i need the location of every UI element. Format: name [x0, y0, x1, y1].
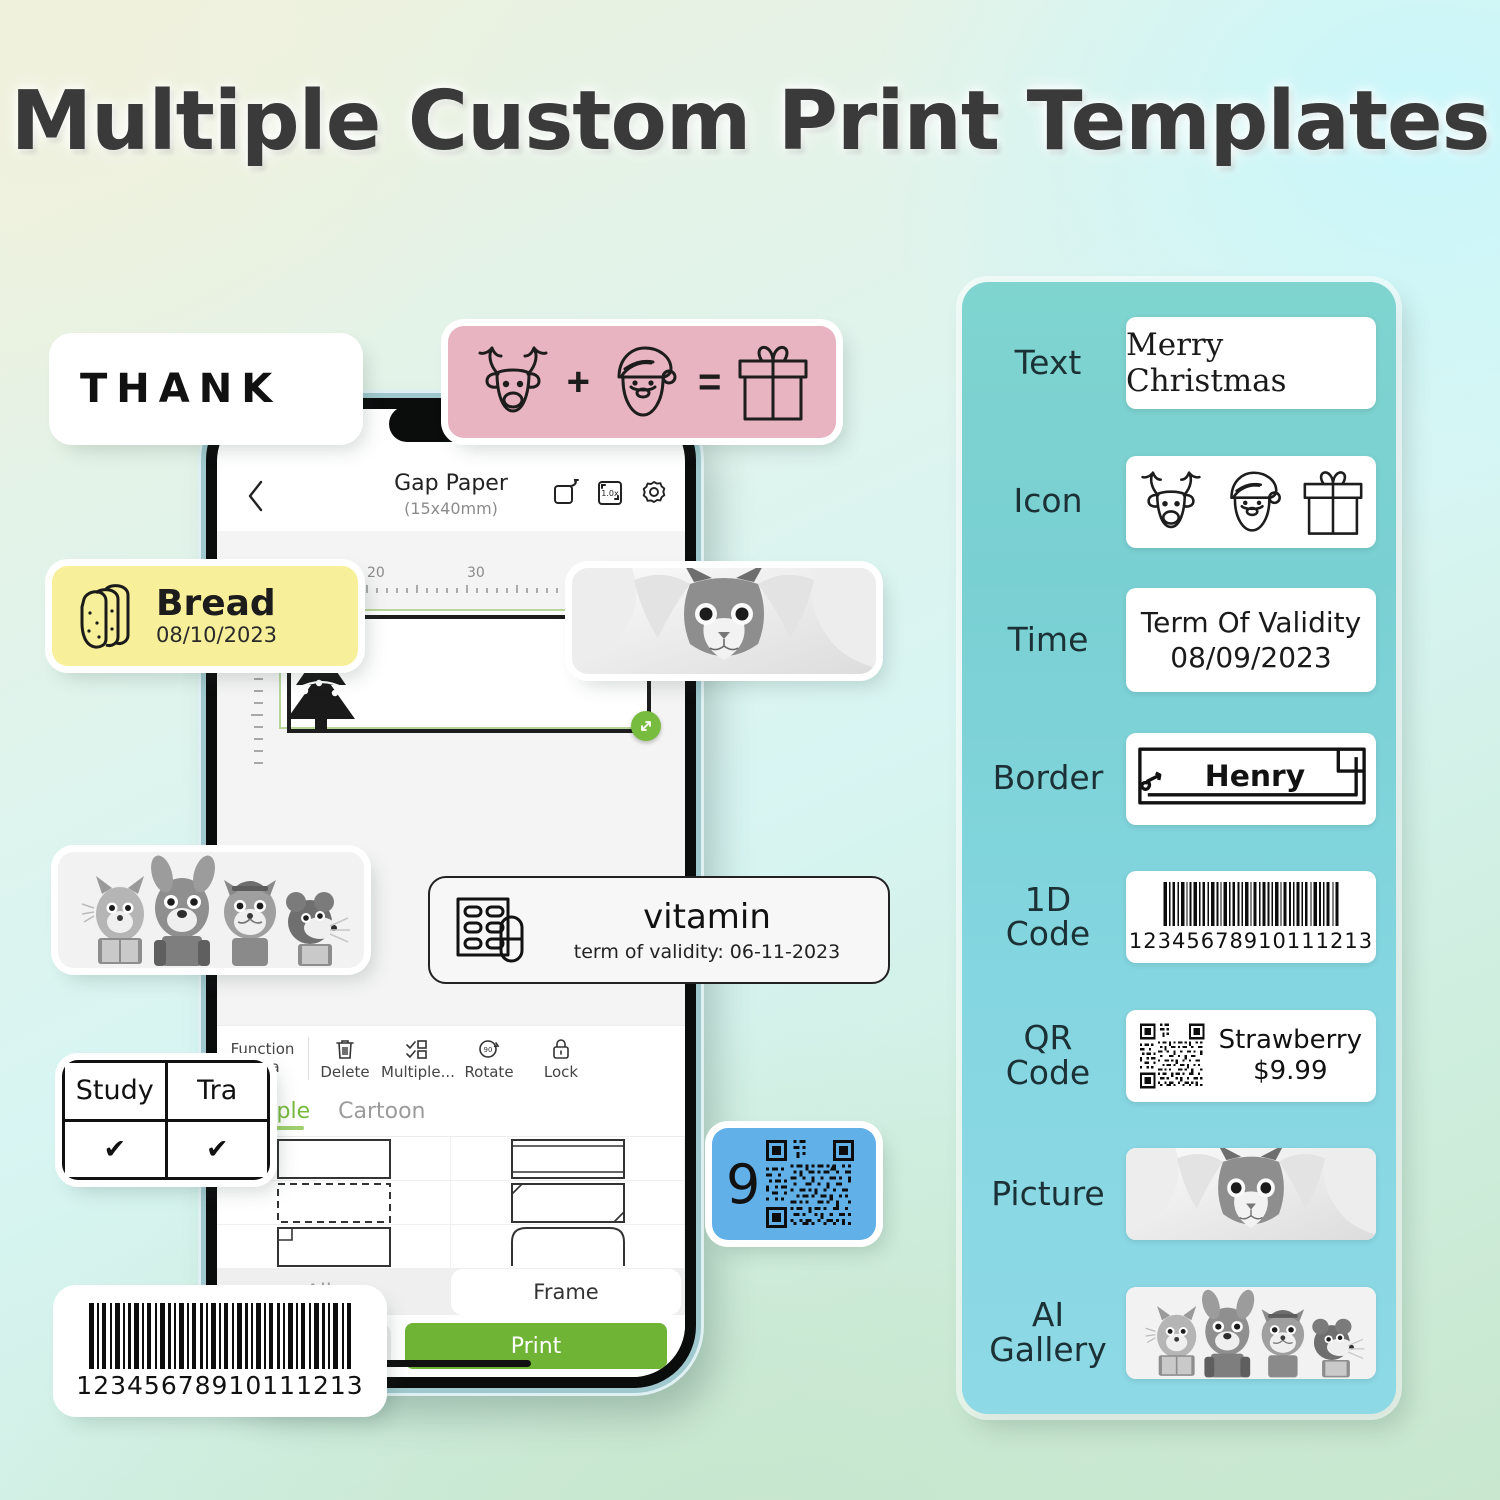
- bread-slices-icon: [70, 579, 142, 653]
- panel-card-picture[interactable]: [1126, 1148, 1376, 1240]
- svg-text:20: 20: [367, 565, 385, 581]
- term-of-validity-date: 08/09/2023: [1141, 640, 1361, 675]
- header-icon-group: 1.0x: [551, 477, 669, 507]
- reindeer-icon: [470, 339, 556, 425]
- frame-option[interactable]: [217, 1181, 451, 1225]
- qr-blue-number: 9: [726, 1153, 760, 1216]
- frame-options-grid: [217, 1137, 685, 1269]
- panel-card-ai-gallery[interactable]: [1126, 1287, 1376, 1379]
- equals-operator: =: [698, 362, 721, 402]
- panel-row-ai-gallery[interactable]: AI Gallery: [982, 1274, 1376, 1392]
- qr-code-icon: [766, 1140, 854, 1228]
- bread-date: 08/10/2023: [156, 623, 277, 647]
- corner-cut-frame-icon: [510, 1182, 626, 1224]
- function-toolbar: Function Area Delete Multiple...: [217, 1025, 685, 1091]
- frame-option[interactable]: [451, 1181, 685, 1225]
- rotate-button[interactable]: 90 Rotate: [453, 1037, 525, 1081]
- multi-select-icon: [405, 1037, 429, 1061]
- gift-icon: [732, 339, 814, 425]
- panel-row-1d-code[interactable]: 1D Code: [982, 858, 1376, 976]
- panel-row-picture[interactable]: Picture: [982, 1135, 1376, 1253]
- panel-row-text[interactable]: Text Merry Christmas: [982, 304, 1376, 422]
- panel-card-qr[interactable]: Strawberry $9.99: [1126, 1010, 1376, 1102]
- tab-frame[interactable]: Frame: [451, 1269, 681, 1315]
- qr-sample: Strawberry $9.99: [1126, 1015, 1376, 1097]
- panel-row-border[interactable]: Border Henry: [982, 720, 1376, 838]
- cartoon-animals-photo: [1126, 1287, 1376, 1379]
- border-frame-icon: Henry: [1126, 741, 1376, 817]
- plus-operator: +: [567, 362, 590, 402]
- panel-row-time[interactable]: Time Term Of Validity 08/09/2023: [982, 581, 1376, 699]
- merry-christmas-text: Merry Christmas: [1126, 327, 1376, 399]
- sticker-barcode-label[interactable]: 12345678910111213: [60, 1292, 380, 1410]
- sticker-christmas-equation[interactable]: + =: [448, 326, 836, 438]
- sticker-thank-label[interactable]: THANK: [56, 340, 356, 438]
- table-row: ✔ ✔: [64, 1120, 269, 1179]
- multiple-select-button[interactable]: Multiple...: [381, 1037, 453, 1081]
- panel-row-icon[interactable]: Icon: [982, 443, 1376, 561]
- settings-gear-icon[interactable]: [639, 477, 669, 507]
- barcode-icon: [87, 1303, 353, 1369]
- study-cell-2: ✔: [166, 1120, 269, 1179]
- dashed-rect-frame-icon: [276, 1182, 392, 1224]
- frame-option[interactable]: [217, 1225, 451, 1269]
- tab-corner-frame-icon: [276, 1226, 392, 1268]
- santa-icon: [1216, 465, 1290, 539]
- function-area-line1: Function: [217, 1041, 308, 1058]
- svg-text:30: 30: [467, 565, 485, 581]
- sticker-cat-photo[interactable]: [572, 568, 876, 674]
- delete-label: Delete: [320, 1063, 369, 1081]
- multiple-label: Multiple...: [381, 1063, 455, 1081]
- panel-label-border: Border: [982, 761, 1114, 796]
- sticker-ai-gallery[interactable]: [58, 852, 364, 968]
- app-header: Gap Paper (15x40mm) 1.0x: [217, 463, 685, 531]
- double-line-frame-icon: [510, 1138, 626, 1180]
- study-cell-1: ✔: [64, 1120, 167, 1179]
- frame-option[interactable]: [451, 1137, 685, 1181]
- panel-label-qr-code: QR Code: [982, 1021, 1114, 1090]
- zoom-1x-icon[interactable]: 1.0x: [595, 477, 625, 507]
- sticker-study-table[interactable]: Study Tra ✔ ✔: [62, 1060, 270, 1180]
- rotate-label: Rotate: [464, 1063, 513, 1081]
- rotate-90-icon: 90: [477, 1037, 501, 1061]
- resize-handle[interactable]: [631, 711, 661, 741]
- thank-text: THANK: [80, 366, 281, 412]
- icon-set: [1126, 465, 1376, 539]
- cat-photo: [572, 568, 876, 674]
- gift-icon: [1298, 465, 1368, 539]
- trash-icon: [333, 1037, 357, 1061]
- qr-product-name: Strawberry: [1219, 1025, 1362, 1056]
- barcode-number: 12345678910111213: [76, 1371, 363, 1400]
- cat-photo: [1126, 1148, 1376, 1240]
- sticker-vitamin-label[interactable]: vitamin term of validity: 06-11-2023: [428, 876, 890, 984]
- panel-label-text: Text: [982, 346, 1114, 381]
- lock-button[interactable]: Lock: [525, 1037, 597, 1081]
- lock-label: Lock: [544, 1063, 578, 1081]
- barcode-sample: 12345678910111213: [1129, 882, 1373, 953]
- study-header-study: Study: [64, 1062, 167, 1121]
- sticker-bread-label[interactable]: Bread 08/10/2023: [52, 566, 358, 666]
- panel-label-ai-gallery: AI Gallery: [982, 1298, 1114, 1367]
- tab-cartoon[interactable]: Cartoon: [338, 1099, 425, 1129]
- svg-text:90: 90: [484, 1046, 493, 1054]
- study-table: Study Tra ✔ ✔: [62, 1060, 270, 1180]
- page-title: Multiple Custom Print Templates: [0, 74, 1500, 169]
- barcode-number: 12345678910111213: [1129, 929, 1373, 953]
- qr-code-icon: [1140, 1015, 1205, 1097]
- time-card-content: Term Of Validity 08/09/2023: [1141, 605, 1361, 675]
- template-types-panel: Text Merry Christmas Icon: [962, 282, 1396, 1414]
- panel-card-barcode[interactable]: 12345678910111213: [1126, 871, 1376, 963]
- qr-product-price: $9.99: [1219, 1056, 1362, 1087]
- delete-button[interactable]: Delete: [309, 1037, 381, 1081]
- sticker-qr-blue[interactable]: 9: [712, 1128, 876, 1240]
- term-of-validity-title: Term Of Validity: [1141, 605, 1361, 640]
- rounded-top-frame-icon: [510, 1226, 626, 1268]
- qr-text: Strawberry $9.99: [1219, 1025, 1362, 1087]
- panel-row-qr-code[interactable]: QR Code: [982, 997, 1376, 1115]
- pill-blister-icon: [452, 893, 530, 967]
- santa-icon: [601, 339, 687, 425]
- panel-label-picture: Picture: [982, 1177, 1114, 1212]
- home-indicator: [371, 1360, 531, 1367]
- rotate-canvas-icon[interactable]: [551, 477, 581, 507]
- panel-label-icon: Icon: [982, 484, 1114, 519]
- frame-option[interactable]: [451, 1225, 685, 1269]
- panel-card-text[interactable]: Merry Christmas: [1126, 317, 1376, 409]
- panel-label-1d-code: 1D Code: [982, 883, 1114, 952]
- lock-icon: [549, 1037, 573, 1061]
- panel-card-icon[interactable]: [1126, 456, 1376, 548]
- panel-card-border[interactable]: Henry: [1126, 733, 1376, 825]
- solid-rect-frame-icon: [276, 1138, 392, 1180]
- bread-title: Bread: [156, 585, 277, 623]
- panel-card-time[interactable]: Term Of Validity 08/09/2023: [1126, 588, 1376, 692]
- barcode-icon: [1133, 882, 1369, 926]
- vitamin-title: vitamin: [548, 897, 866, 937]
- cartoon-animals-photo: [58, 852, 364, 968]
- table-row: Study Tra: [64, 1062, 269, 1121]
- border-name-text: Henry: [1205, 759, 1305, 794]
- template-category-tabs: Simple Cartoon: [217, 1091, 685, 1137]
- vitamin-subtitle: term of validity: 06-11-2023: [548, 941, 866, 963]
- border-sample: Henry: [1126, 733, 1376, 825]
- svg-text:1.0x: 1.0x: [601, 489, 619, 498]
- study-header-track: Tra: [166, 1062, 269, 1121]
- panel-label-time: Time: [982, 623, 1114, 658]
- reindeer-icon: [1134, 465, 1208, 539]
